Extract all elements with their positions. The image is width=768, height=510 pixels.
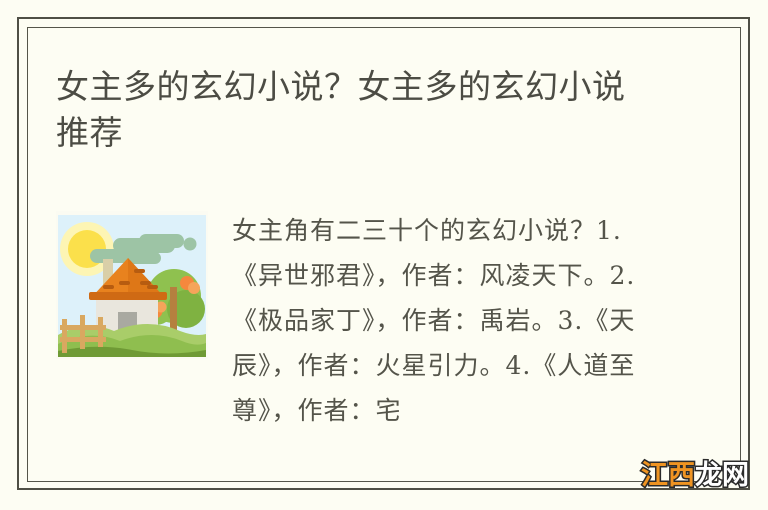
article-card-page: 女主多的玄幻小说？女主多的玄幻小说推荐 <box>0 0 768 510</box>
article-body: 女主角有二三十个的玄幻小说？1.《异世邪君》，作者：风凌天下。2.《极品家丁》，… <box>232 208 652 458</box>
watermark-text-orange: 江西 <box>641 460 695 491</box>
countryside-house-illustration <box>56 211 208 359</box>
article-thumbnail <box>56 211 208 359</box>
article-content-row: 女主角有二三十个的玄幻小说？1.《异世邪君》，作者：风凌天下。2.《极品家丁》，… <box>56 211 716 461</box>
page-title: 女主多的玄幻小说？女主多的玄幻小说推荐 <box>56 64 656 156</box>
watermark-text-white: 龙网 <box>695 460 749 491</box>
site-watermark: 江西龙网 <box>641 461 749 491</box>
